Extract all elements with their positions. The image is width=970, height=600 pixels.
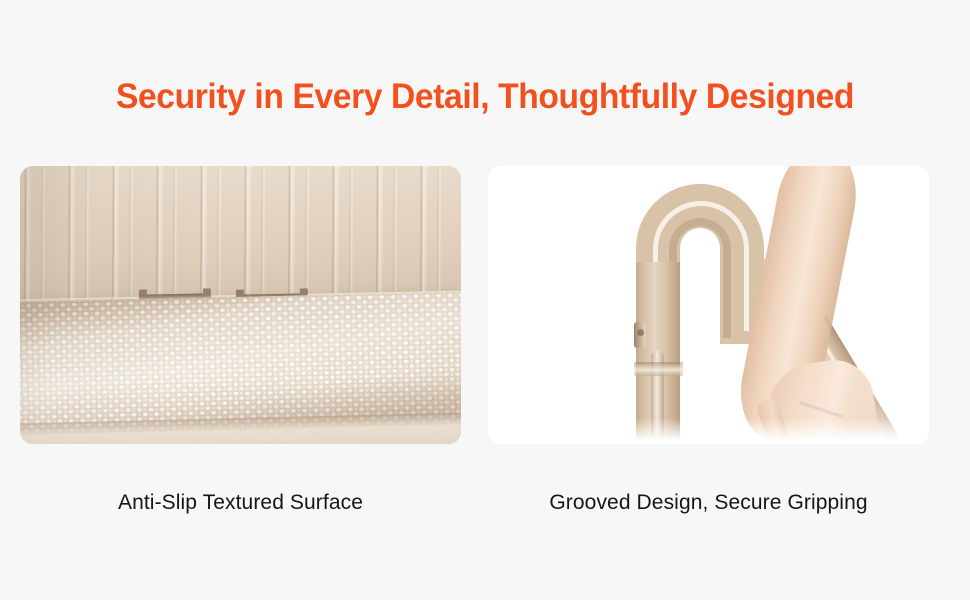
promo-banner: Security in Every Detail, Thoughtfully D…: [0, 0, 970, 600]
feature-card-anti-slip: [20, 166, 461, 444]
grooved-grab-bar-photo: [488, 166, 929, 444]
anti-slip-textured-surface-photo: [20, 166, 461, 444]
feature-card-grooved-design: [488, 166, 929, 444]
grab-bar-adjust-button: [634, 322, 646, 348]
caption-anti-slip: Anti-Slip Textured Surface: [20, 488, 461, 518]
feature-card-list: [20, 166, 948, 444]
grab-bar-collar: [634, 362, 683, 376]
caption-grooved-design: Grooved Design, Secure Gripping: [488, 488, 929, 518]
feature-caption-list: Anti-Slip Textured Surface Grooved Desig…: [20, 488, 948, 518]
page-title: Security in Every Detail, Thoughtfully D…: [19, 75, 950, 119]
photo-shading-overlay: [20, 166, 461, 444]
